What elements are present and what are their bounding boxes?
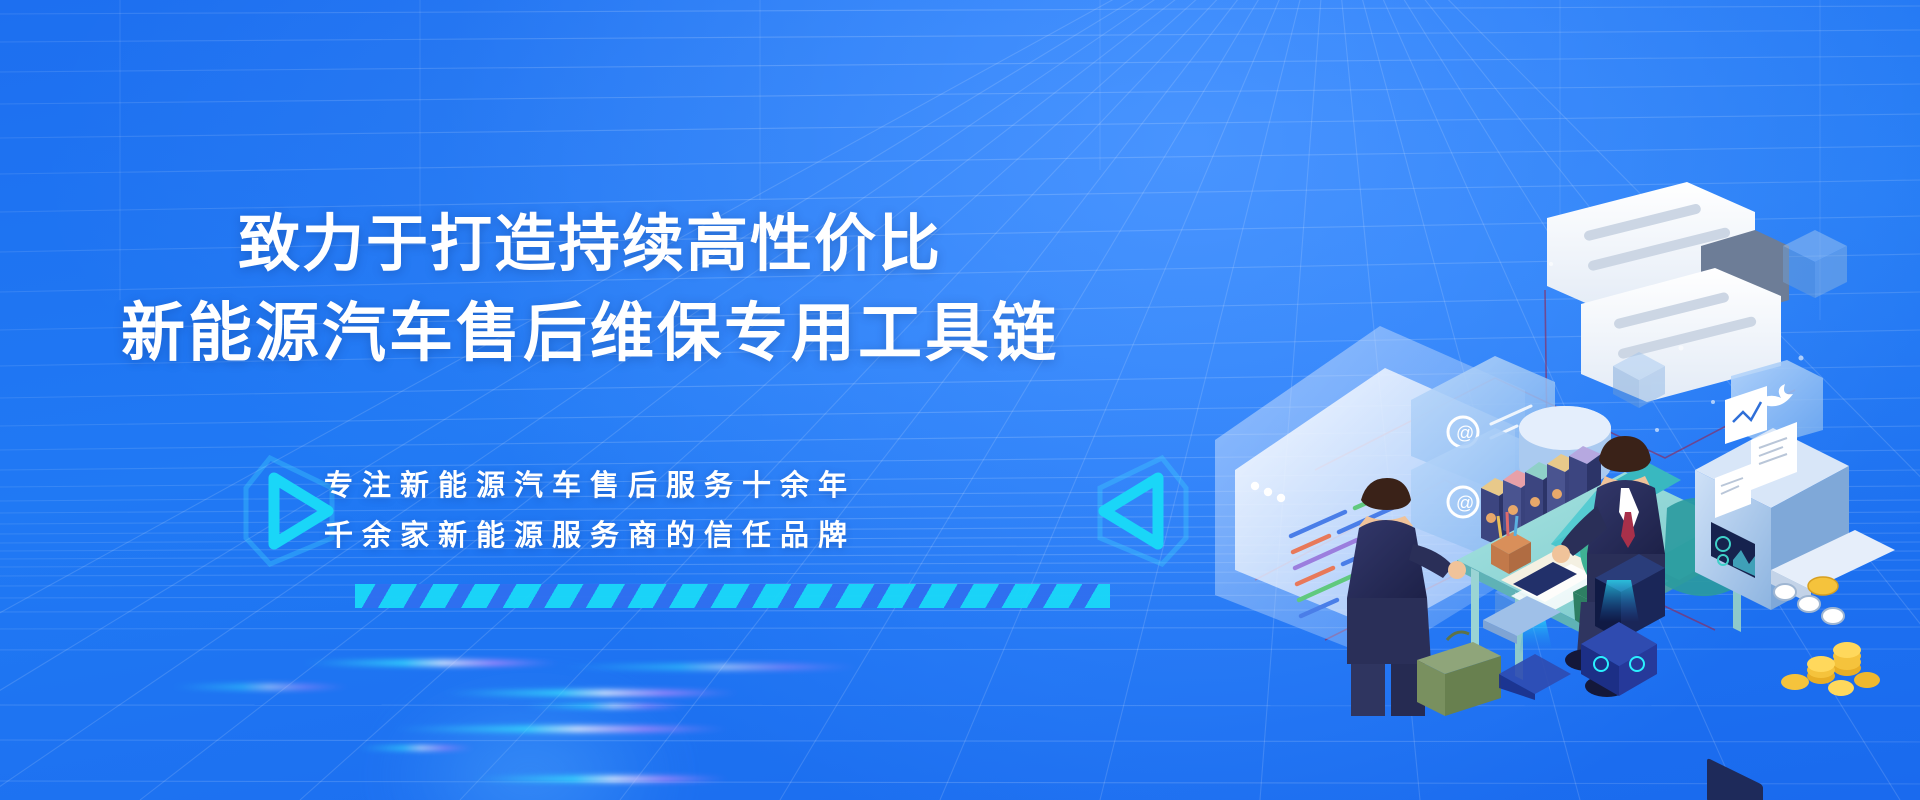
subtitle-block: 专注新能源汽车售后服务十余年 千余家新能源服务商的信任品牌 [0,462,1180,554]
floating-cube [1783,230,1847,298]
headline-line-1: 致力于打造持续高性价比 [0,208,1180,281]
diagonal-stripe-bar [355,584,1110,608]
server-machine-conveyor [1695,386,1895,800]
promo-banner: 致力于打造持续高性价比 新能源汽车售后维保专用工具链 专注新能源汽车售后服务十余… [0,0,1920,800]
subtitle-line-2: 千余家新能源服务商的信任品牌 [324,512,856,554]
svg-text:@: @ [1456,493,1474,513]
isometric-office-illustration: @ @ [1195,140,1895,700]
copy-block: 致力于打造持续高性价比 新能源汽车售后维保专用工具链 专注新能源汽车售后服务十余… [0,0,1250,800]
subtitle-line-1: 专注新能源汽车售后服务十余年 [324,462,856,504]
headline-line-2: 新能源汽车售后维保专用工具链 [0,296,1180,372]
